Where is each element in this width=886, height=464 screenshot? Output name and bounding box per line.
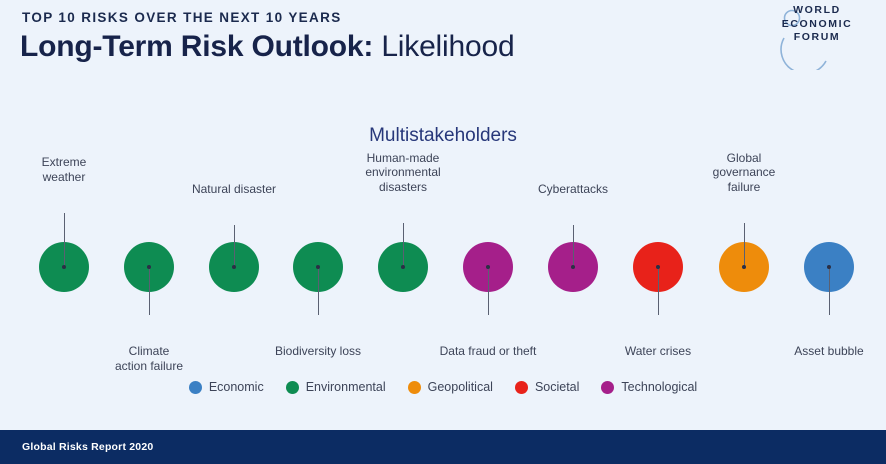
legend-swatch-icon [601, 381, 614, 394]
risk-label-line: weather [0, 170, 144, 185]
leader-line [573, 225, 574, 267]
risk-label: Extremeweather [0, 155, 144, 184]
page-footer: Global Risks Report 2020 [0, 430, 886, 464]
legend-label: Societal [535, 380, 579, 394]
legend-swatch-icon [286, 381, 299, 394]
center-dot [827, 265, 831, 269]
risk-label-line: Climate [69, 344, 229, 359]
risk-label-line: Natural disaster [154, 182, 314, 197]
risk-label: Climateaction failure [69, 344, 229, 373]
risk-label: Asset bubble [749, 344, 886, 359]
eyebrow-text: TOP 10 RISKS OVER THE NEXT 10 YEARS [22, 10, 342, 25]
center-dot [401, 265, 405, 269]
risk-label-line: Human-made [323, 151, 483, 166]
center-dot [232, 265, 236, 269]
risk-label: Human-madeenvironmentaldisasters [323, 151, 483, 195]
legend-swatch-icon [515, 381, 528, 394]
legend-item[interactable]: Geopolitical [408, 380, 493, 394]
risk-label-line: Global [664, 151, 824, 166]
leader-line [403, 223, 404, 267]
legend-label: Economic [209, 380, 264, 394]
logo-line-3: FORUM [762, 31, 872, 45]
risk-label: Biodiversity loss [238, 344, 398, 359]
risk-label-line: environmental [323, 165, 483, 180]
leader-line [658, 267, 659, 315]
center-dot [656, 265, 660, 269]
legend-item[interactable]: Economic [189, 380, 264, 394]
center-dot [742, 265, 746, 269]
legend-swatch-icon [408, 381, 421, 394]
risk-chart: Multistakeholders ExtremeweatherClimatea… [0, 84, 886, 430]
risk-label-line: Biodiversity loss [238, 344, 398, 359]
logo-line-1: WORLD [762, 4, 872, 18]
page-title: Long-Term Risk Outlook: Likelihood [20, 30, 514, 64]
legend-label: Geopolitical [428, 380, 493, 394]
center-dot [316, 265, 320, 269]
center-dot [62, 265, 66, 269]
page-title-light: Likelihood [373, 30, 514, 63]
risk-label-line: Data fraud or theft [408, 344, 568, 359]
center-dot [486, 265, 490, 269]
center-dot [147, 265, 151, 269]
risk-label-line: Extreme [0, 155, 144, 170]
leader-line [149, 267, 150, 315]
leader-line [744, 223, 745, 267]
risk-label: Water crises [578, 344, 738, 359]
legend-label: Environmental [306, 380, 386, 394]
risk-label: Cyberattacks [493, 182, 653, 197]
risk-label-line: disasters [323, 180, 483, 195]
legend-item[interactable]: Environmental [286, 380, 386, 394]
legend-label: Technological [621, 380, 697, 394]
risk-label-line: action failure [69, 359, 229, 374]
center-dot [571, 265, 575, 269]
page-header: TOP 10 RISKS OVER THE NEXT 10 YEARS Long… [0, 0, 886, 84]
risk-label: Data fraud or theft [408, 344, 568, 359]
risk-label-line: Asset bubble [749, 344, 886, 359]
risk-label-line: Cyberattacks [493, 182, 653, 197]
world-economic-forum-logo: WORLD ECONOMIC FORUM [762, 4, 872, 70]
leader-line [318, 267, 319, 315]
legend-swatch-icon [189, 381, 202, 394]
logo-line-2: ECONOMIC [762, 18, 872, 32]
legend-item[interactable]: Technological [601, 380, 697, 394]
risk-label: Natural disaster [154, 182, 314, 197]
leader-line [234, 225, 235, 267]
page-title-bold: Long-Term Risk Outlook: [20, 30, 373, 63]
legend-item[interactable]: Societal [515, 380, 579, 394]
risk-label: Globalgovernancefailure [664, 151, 824, 195]
logo-wordmark: WORLD ECONOMIC FORUM [762, 4, 872, 45]
leader-line [488, 267, 489, 315]
risk-label-line: failure [664, 180, 824, 195]
footer-source-label: Global Risks Report 2020 [22, 441, 153, 453]
leader-line [64, 213, 65, 267]
risk-label-line: governance [664, 165, 824, 180]
chart-subtitle: Multistakeholders [0, 125, 886, 147]
risk-label-line: Water crises [578, 344, 738, 359]
chart-legend: EconomicEnvironmentalGeopoliticalSocieta… [0, 380, 886, 394]
leader-line [829, 267, 830, 315]
